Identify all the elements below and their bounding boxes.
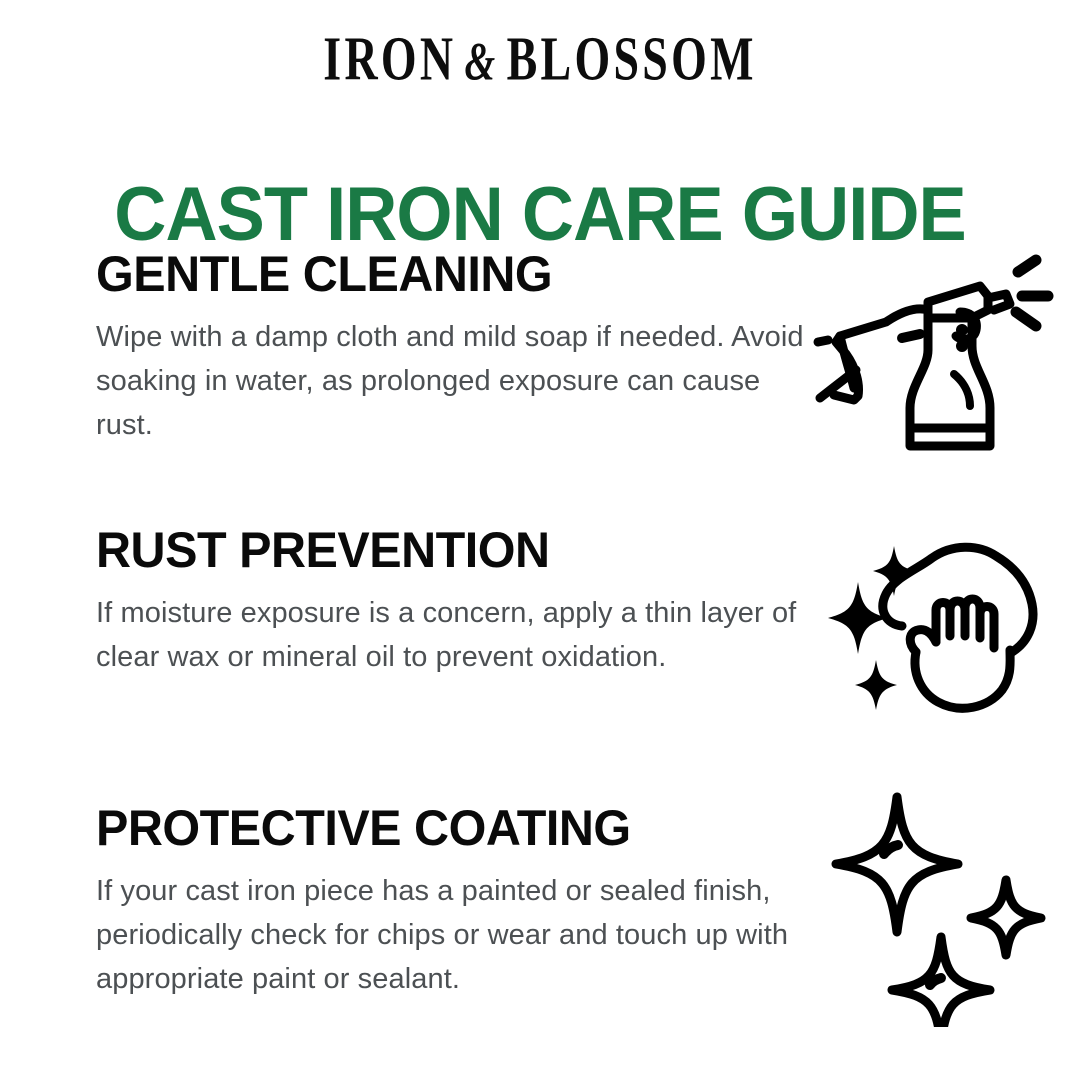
section-body-text: If your cast iron piece has a painted or… [96, 869, 808, 1001]
hand-wiping-cloth-icon [820, 532, 1070, 732]
page-title: CAST IRON CARE GUIDE [27, 177, 1053, 253]
spray-bottle-icon [810, 250, 1070, 465]
section-body-text: Wipe with a damp cloth and mild soap if … [96, 315, 808, 447]
brand-name-part-2: BLOSSOM [507, 25, 757, 94]
section-body-text: If moisture exposure is a concern, apply… [96, 591, 808, 679]
sparkles-icon [820, 792, 1070, 1027]
brand-logo: IRON&BLOSSOM [97, 28, 983, 91]
brand-ampersand: & [456, 32, 506, 91]
care-guide-poster: IRON&BLOSSOM CAST IRON CARE GUIDE GENTLE… [0, 0, 1080, 1080]
brand-name-part-1: IRON [323, 25, 456, 94]
